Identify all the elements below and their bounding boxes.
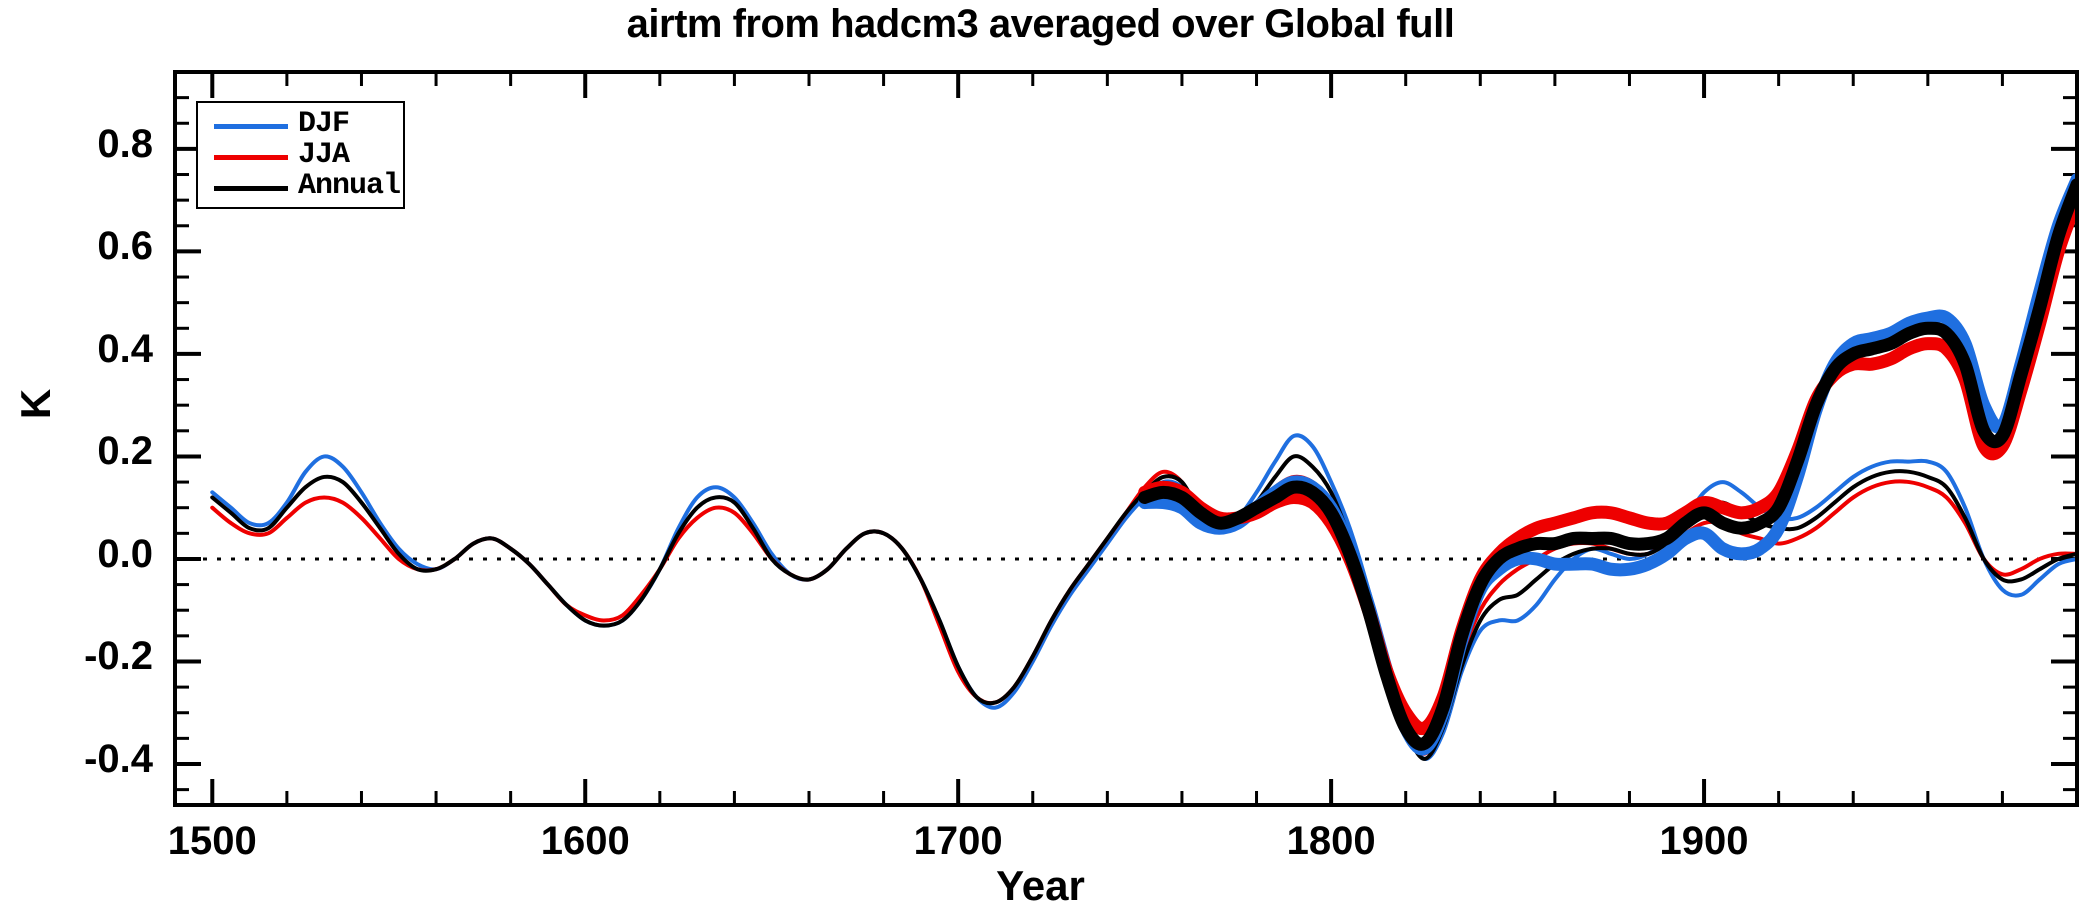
y-tick-label: 0.4 [0, 327, 153, 372]
legend-label: Annual [298, 169, 400, 203]
x-tick-label: 1600 [475, 819, 695, 864]
legend-item-jja: JJA [198, 142, 403, 172]
y-tick-label: 0.2 [0, 429, 153, 474]
legend-swatch-jja [214, 155, 288, 160]
x-tick-label: 1900 [1594, 819, 1814, 864]
x-tick-label: 1700 [848, 819, 1068, 864]
series-line-jja [212, 472, 2077, 754]
y-tick-label: -0.2 [0, 634, 153, 679]
plot-frame-overlay [175, 72, 2077, 805]
x-tick-label: 1500 [102, 819, 322, 864]
legend-label: DJF [298, 107, 349, 141]
y-tick-label: 0.8 [0, 122, 153, 167]
y-tick-label: 0.0 [0, 532, 153, 577]
series-layer [212, 180, 2077, 759]
legend: DJFJJAAnnual [196, 101, 405, 209]
plot-frame [175, 72, 2077, 805]
x-axis-label: Year [0, 862, 2081, 910]
legend-label: JJA [298, 138, 349, 172]
y-tick-label: -0.4 [0, 737, 153, 782]
chart-root: airtm from hadcm3 averaged over Global f… [0, 0, 2081, 924]
y-tick-label: 0.6 [0, 224, 153, 269]
legend-swatch-annual [214, 186, 288, 191]
legend-item-djf: DJF [198, 111, 403, 141]
legend-item-annual: Annual [198, 173, 403, 203]
legend-swatch-djf [214, 124, 288, 129]
x-tick-label: 1800 [1221, 819, 1441, 864]
